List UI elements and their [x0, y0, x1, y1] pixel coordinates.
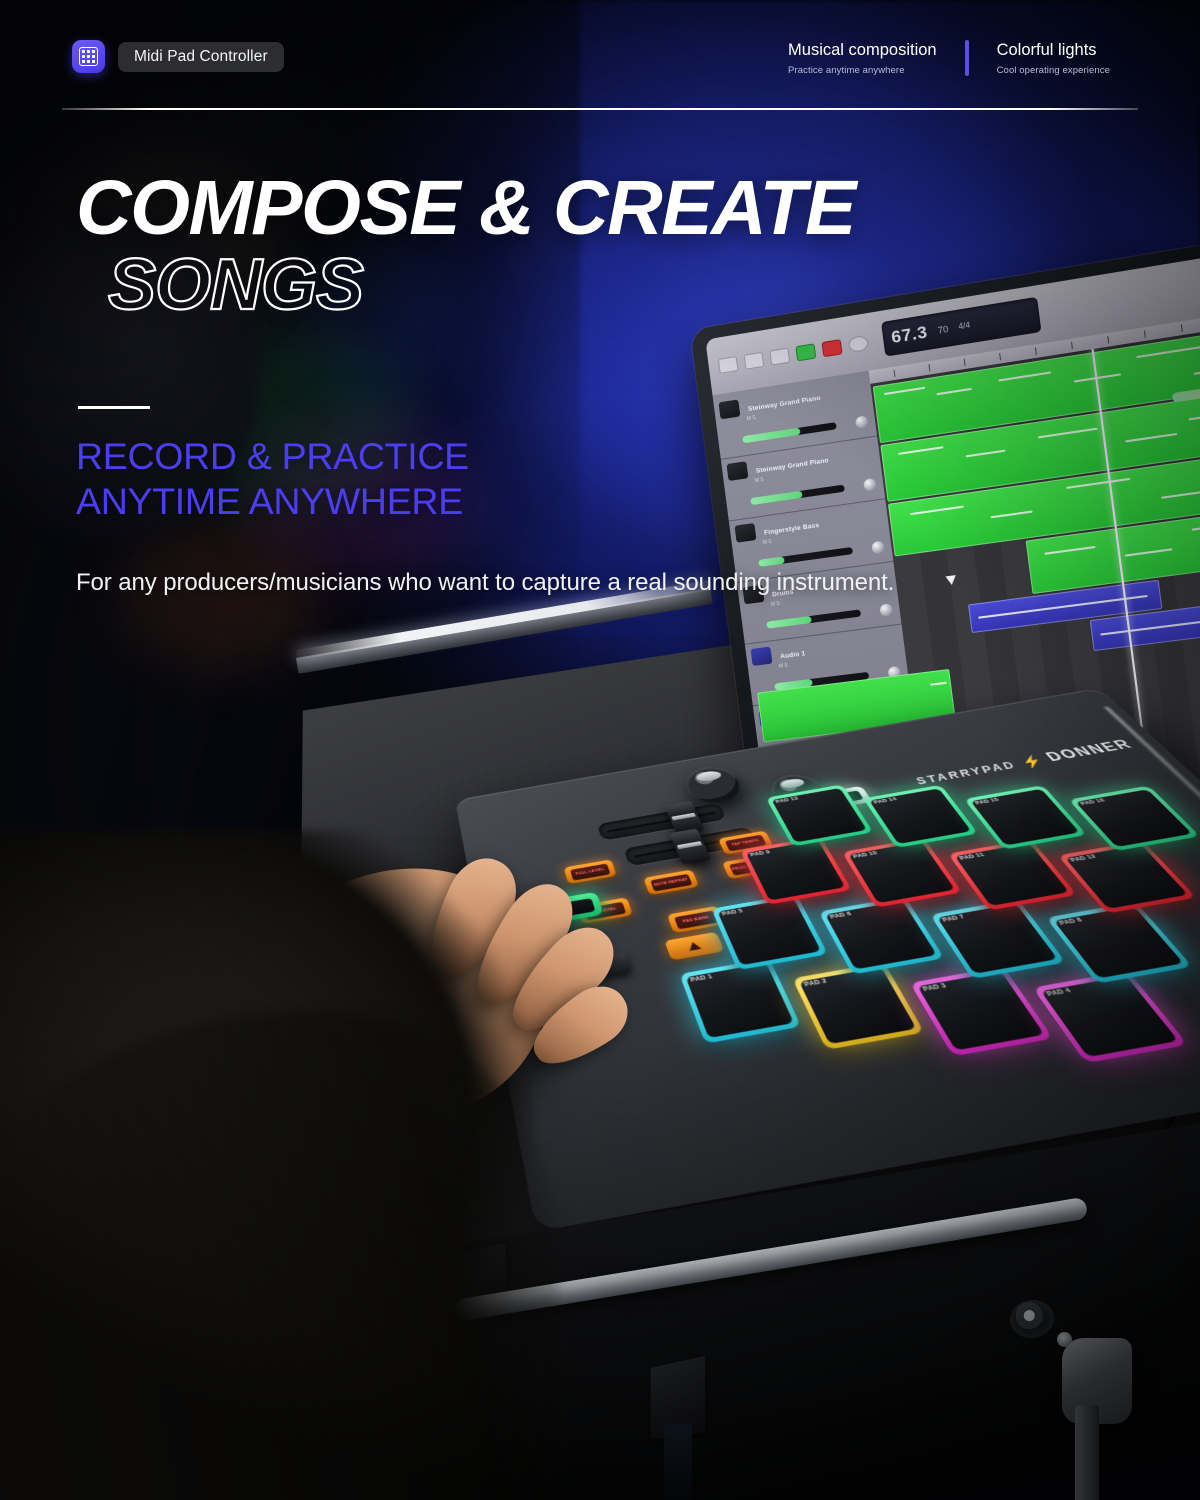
- track-volume-slider[interactable]: [766, 609, 861, 628]
- pad-grid-icon: [72, 40, 105, 73]
- headline-line-2: SONGS: [108, 244, 855, 326]
- tempo-key-value: 70: [937, 324, 949, 336]
- feature-subtitle: Practice anytime anywhere: [788, 65, 937, 76]
- transport-stop-button[interactable]: [769, 347, 790, 365]
- product-badge-label: Midi Pad Controller: [134, 48, 268, 66]
- track-pan-knob[interactable]: [863, 478, 877, 492]
- time-signature-value: 4/4: [958, 321, 971, 331]
- track-volume-slider[interactable]: [750, 485, 845, 506]
- track-volume-slider[interactable]: [758, 547, 853, 567]
- header-rule: [62, 108, 1138, 110]
- piano-icon: [726, 461, 748, 481]
- tempo-bpm-value: 67.3: [890, 322, 929, 348]
- track-name: Audio 1: [780, 650, 806, 660]
- hero-subheading: RECORD & PRACTICE ANYTIME ANYWHERE: [76, 434, 469, 524]
- feature-title: Colorful lights: [997, 41, 1110, 60]
- transport-record-button[interactable]: [821, 339, 842, 357]
- subheading-line-1: RECORD & PRACTICE: [76, 434, 469, 479]
- poster-stage: 67.3 70 4/4 Steinway Grand Piano M S: [0, 0, 1200, 1500]
- transport-loop-button[interactable]: [848, 334, 869, 352]
- hero-headline: COMPOSE & CREATE SONGS: [76, 172, 855, 326]
- headline-line-1: COMPOSE & CREATE: [76, 172, 855, 244]
- audio-wave-icon: [750, 647, 772, 666]
- bass-icon: [734, 523, 756, 543]
- hero-body-text: For any producers/musicians who want to …: [76, 566, 894, 600]
- transport-rewind-button[interactable]: [718, 355, 739, 373]
- track-pan-knob[interactable]: [879, 603, 893, 617]
- track-volume-slider[interactable]: [742, 422, 837, 443]
- track-pan-knob[interactable]: [871, 541, 885, 555]
- feature-colorful-lights: Colorful lights Cool operating experienc…: [969, 41, 1138, 76]
- pointer-cursor: [945, 575, 957, 586]
- transport-play-button[interactable]: [795, 343, 816, 361]
- product-badge: Midi Pad Controller: [72, 40, 284, 73]
- track-pan-knob[interactable]: [855, 415, 869, 429]
- case-leg: [1075, 1405, 1099, 1500]
- subheading-rule: [78, 406, 150, 409]
- piano-icon: [718, 399, 740, 419]
- page-header: Midi Pad Controller Musical composition …: [0, 0, 1200, 110]
- feature-subtitle: Cool operating experience: [997, 65, 1110, 76]
- case-rivet: [1057, 1332, 1072, 1347]
- person-torso: [0, 1010, 560, 1500]
- transport-forward-button[interactable]: [743, 351, 764, 369]
- feature-musical-composition: Musical composition Practice anytime any…: [760, 41, 965, 76]
- subheading-line-2: ANYTIME ANYWHERE: [76, 479, 469, 524]
- product-badge-pill: Midi Pad Controller: [118, 42, 284, 72]
- feature-title: Musical composition: [788, 41, 937, 60]
- header-features: Musical composition Practice anytime any…: [760, 40, 1138, 76]
- case-strap: [664, 1424, 692, 1500]
